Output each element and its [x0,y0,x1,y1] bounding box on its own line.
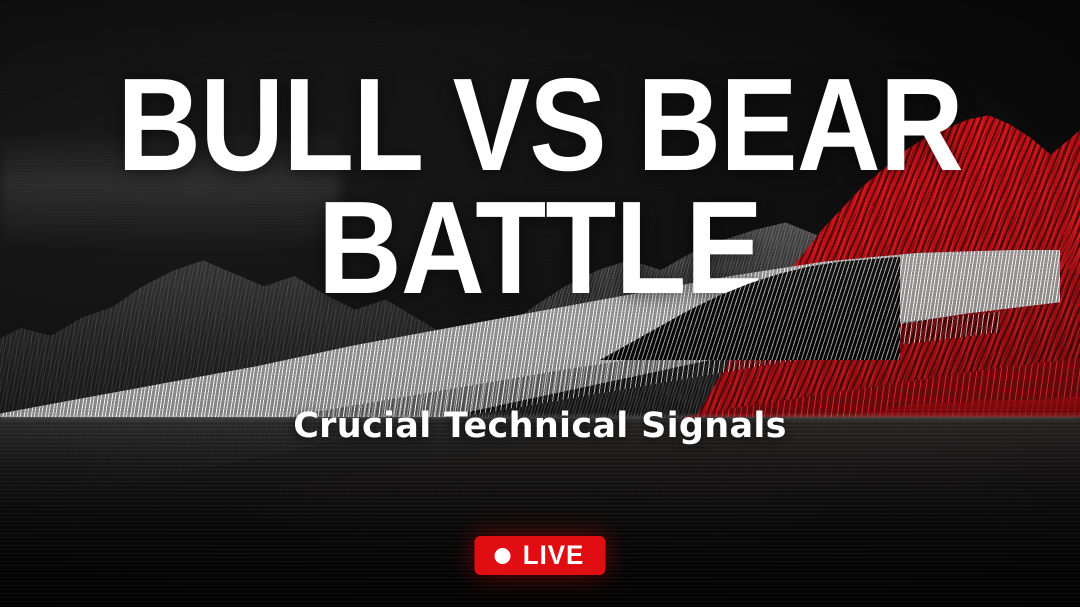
live-dot-icon [494,548,510,564]
headline: BULL VS BEAR BATTLE [65,64,1015,310]
headline-line-1: BULL VS BEAR [65,64,1015,187]
live-badge-label: LIVE [523,542,584,569]
live-badge[interactable]: LIVE [475,536,606,575]
headline-line-2: BATTLE [65,187,1015,310]
text-layer: BULL VS BEAR BATTLE Crucial Technical Si… [0,0,1080,607]
subtitle: Crucial Technical Signals [0,406,1080,446]
thumbnail-canvas: BULL VS BEAR BATTLE Crucial Technical Si… [0,0,1080,607]
